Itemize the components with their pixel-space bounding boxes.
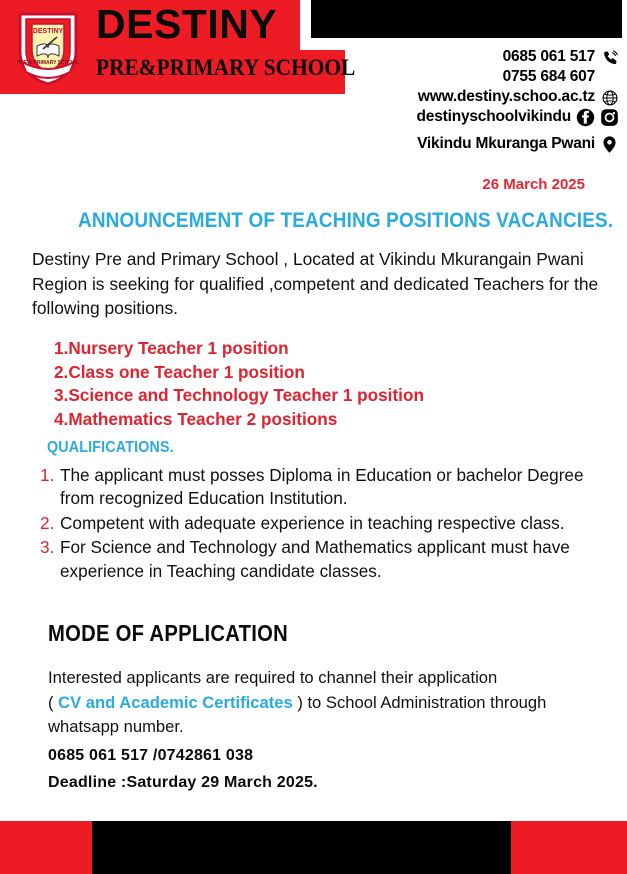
contact-phone-1-row: 0685 061 517 <box>319 48 619 67</box>
list-item: 3. For Science and Technology and Mathem… <box>40 536 618 583</box>
school-crest-logo: DESTINY PRE & PRIMARY SCHOOL <box>12 6 84 88</box>
list-item-text: The applicant must posses Diploma in Edu… <box>60 464 618 511</box>
contact-location: Vikindu Mkuranga Pwani <box>417 135 595 154</box>
list-item-text: Competent with adequate experience in te… <box>60 512 618 535</box>
list-item-number: 2. <box>40 512 60 535</box>
list-item: 2.Class one Teacher 1 position <box>54 361 594 385</box>
qualifications-heading: QUALIFICATIONS. <box>47 439 174 457</box>
instagram-icon <box>600 108 619 127</box>
contact-website-row: www.destiny.schoo.ac.tz <box>319 88 619 107</box>
contact-website: www.destiny.schoo.ac.tz <box>418 88 595 107</box>
whatsapp-numbers: 0685 061 517 /0742861 038 <box>48 747 253 765</box>
school-subtitle: PRE&PRIMARY SCHOOL <box>96 56 355 79</box>
intro-paragraph: Destiny Pre and Primary School , Located… <box>32 247 612 321</box>
mode-paren-open: ( <box>48 693 58 712</box>
list-item-number: 3. <box>40 536 60 559</box>
svg-text:DESTINY: DESTINY <box>33 28 64 35</box>
list-item: 2. Competent with adequate experience in… <box>40 512 618 535</box>
location-pin-icon <box>600 135 619 154</box>
contact-block: 0685 061 517 0755 684 607 www.destiny.sc… <box>319 48 619 155</box>
mode-of-application-heading: MODE OF APPLICATION <box>48 620 288 647</box>
contact-phone-2-row: 0755 684 607 <box>319 68 619 87</box>
qualifications-list: 1. The applicant must posses Diploma in … <box>40 464 618 584</box>
list-item: 4.Mathematics Teacher 2 positions <box>54 408 594 432</box>
icon-spacer <box>600 68 619 87</box>
application-deadline: Deadline :Saturday 29 March 2025. <box>48 774 318 792</box>
page-title: ANNOUNCEMENT OF TEACHING POSITIONS VACAN… <box>78 208 613 233</box>
contact-social-row: destinyschoolvikindu <box>319 108 619 127</box>
contact-social-handle: destinyschoolvikindu <box>417 108 571 127</box>
school-name: DESTINY <box>96 4 277 45</box>
list-item-text: For Science and Technology and Mathemati… <box>60 536 618 583</box>
mode-highlight-documents: CV and Academic Certificates <box>58 693 293 712</box>
phone-icon <box>600 48 619 67</box>
list-item-number: 1. <box>40 464 60 487</box>
globe-icon <box>600 88 619 107</box>
positions-list: 1.Nursery Teacher 1 position 2.Class one… <box>54 337 594 431</box>
contact-phone-1: 0685 061 517 <box>503 48 595 67</box>
announcement-date: 26 March 2025 <box>482 176 585 193</box>
contact-phone-2: 0755 684 607 <box>503 68 595 87</box>
list-item: 1. The applicant must posses Diploma in … <box>40 464 618 511</box>
poster-footer <box>0 821 627 874</box>
facebook-icon <box>576 108 595 127</box>
mode-of-application-body: Interested applicants are required to ch… <box>48 666 608 740</box>
footer-black-band <box>92 821 511 874</box>
list-item: 3.Science and Technology Teacher 1 posit… <box>54 384 594 408</box>
list-item: 1.Nursery Teacher 1 position <box>54 337 594 361</box>
mode-text-part-1: Interested applicants are required to ch… <box>48 668 497 687</box>
header-black-band <box>311 0 622 38</box>
contact-location-row: Vikindu Mkuranga Pwani <box>319 135 619 154</box>
